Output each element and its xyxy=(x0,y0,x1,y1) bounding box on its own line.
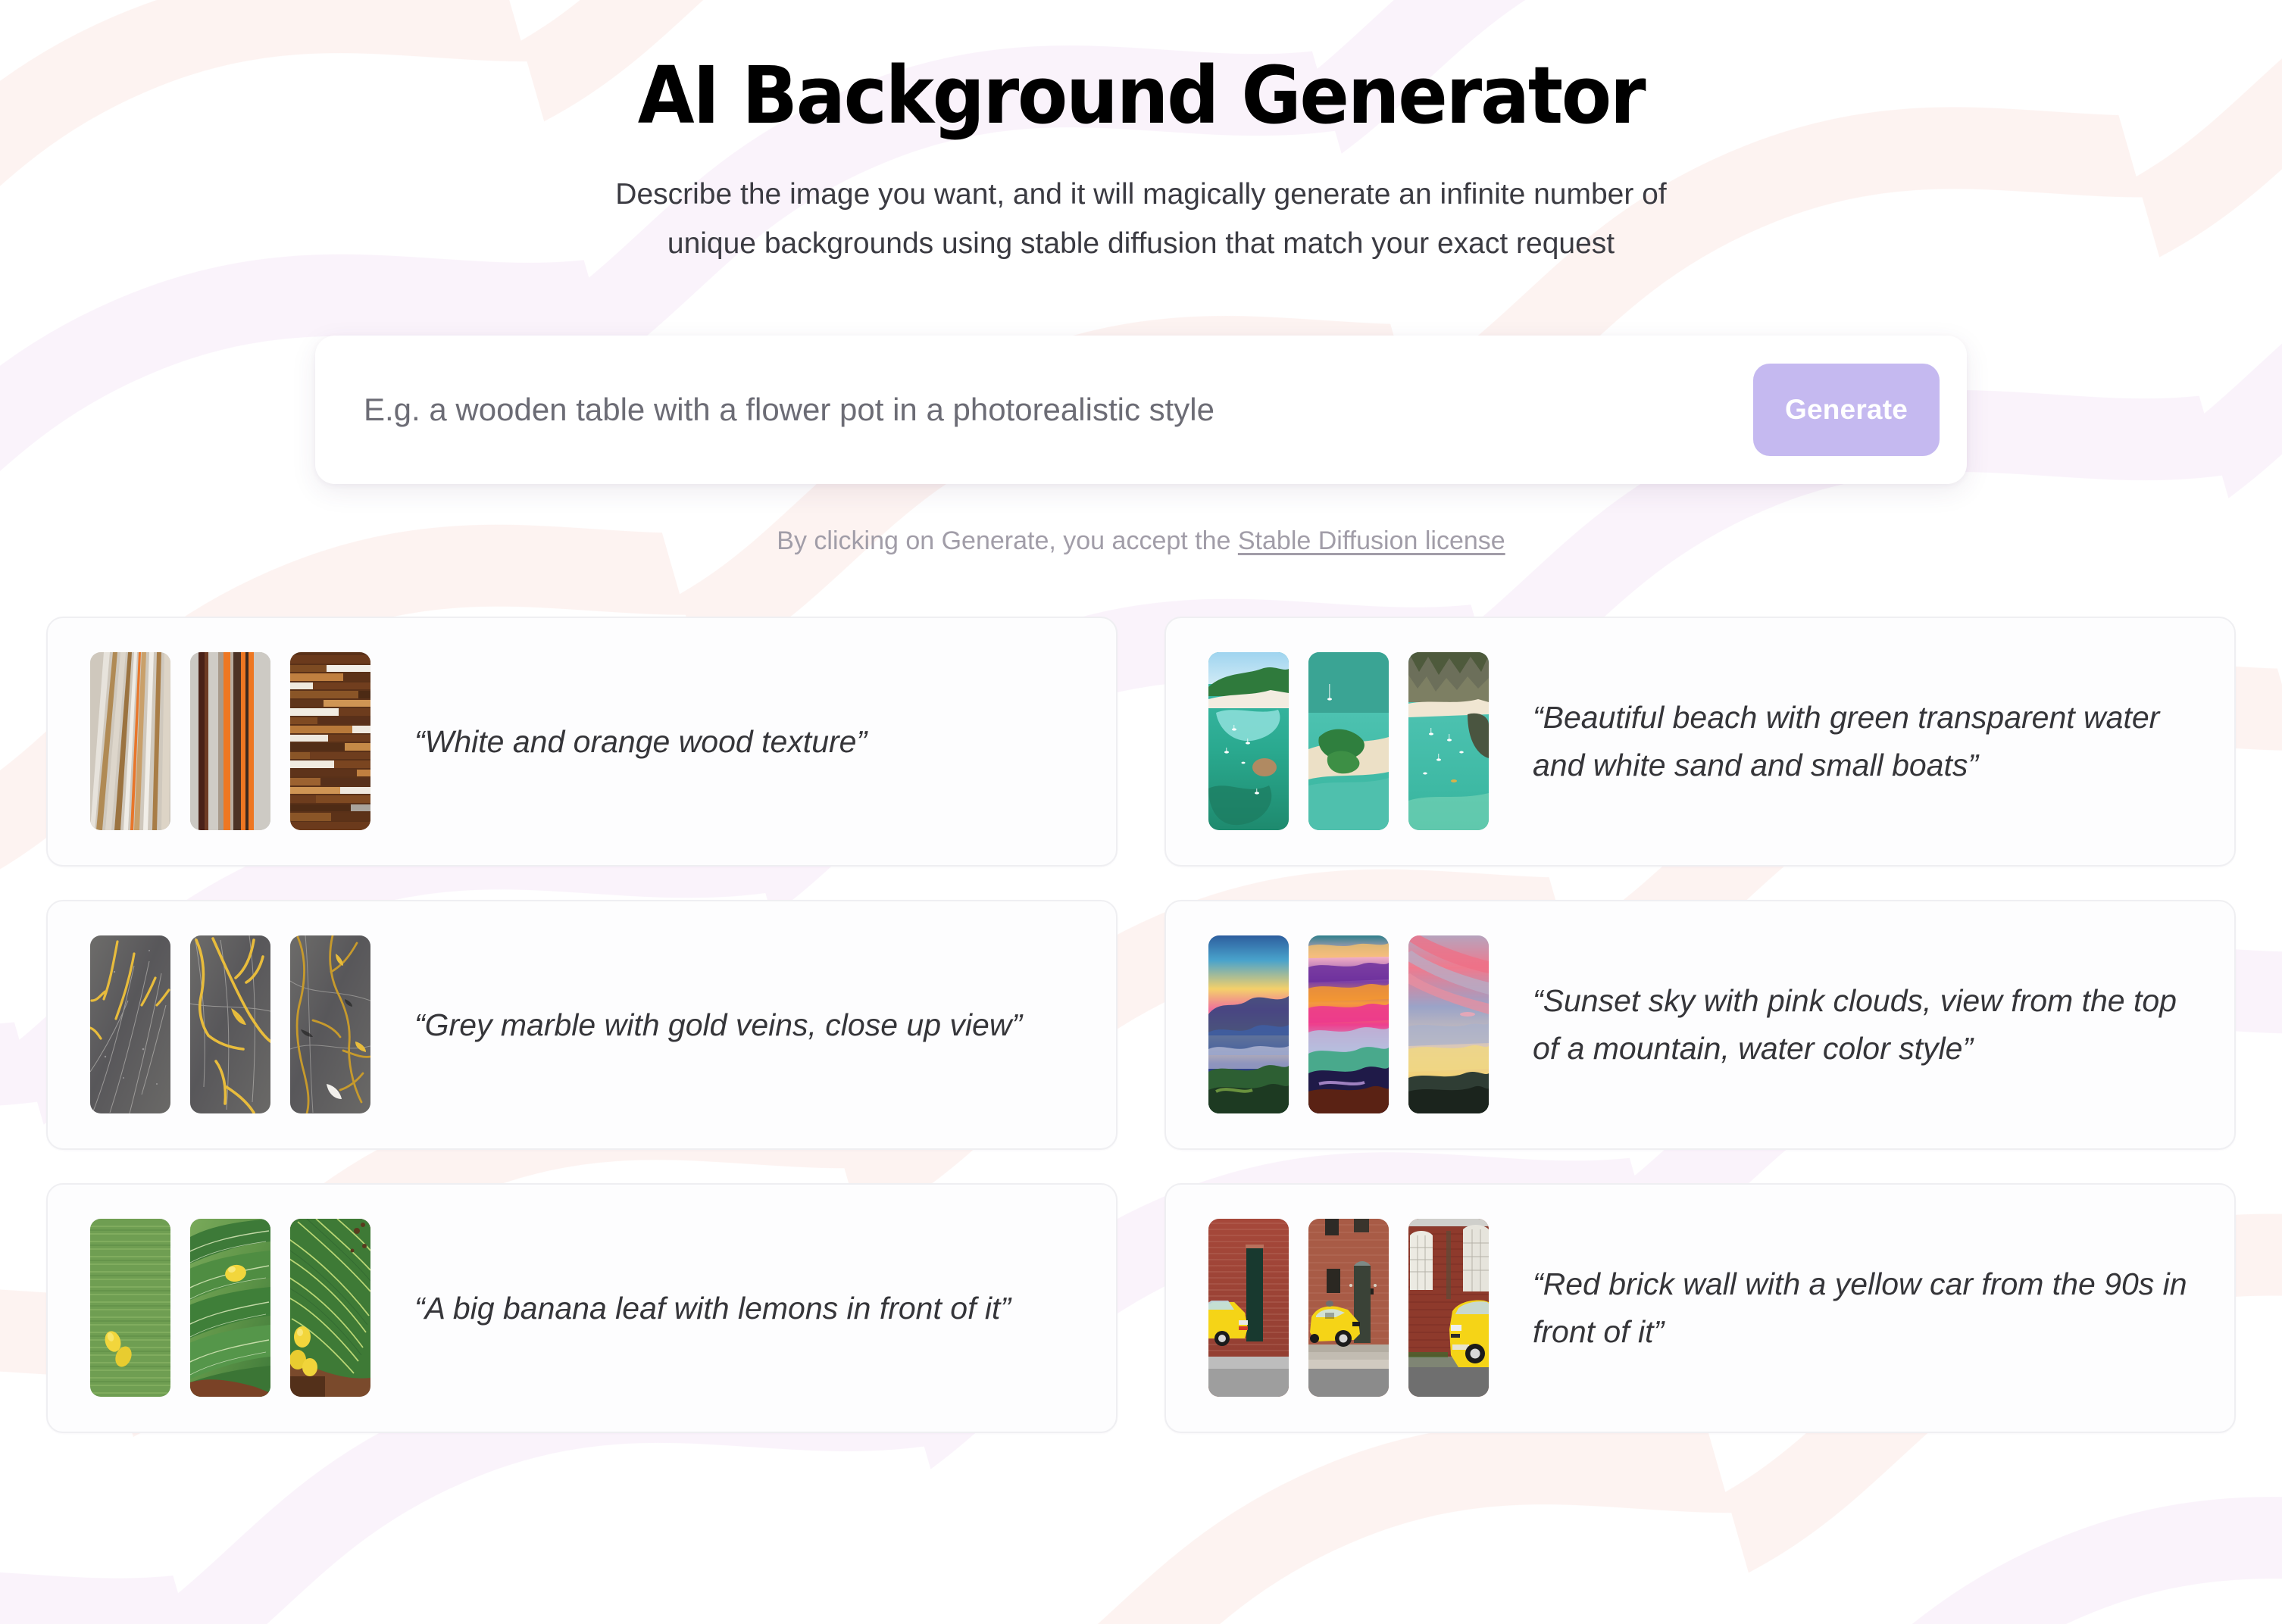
beach-cliff-bay-thumb[interactable] xyxy=(1408,652,1489,830)
thumbnail-row xyxy=(90,1219,370,1397)
example-card[interactable]: “Grey marble with gold veins, close up v… xyxy=(46,900,1118,1150)
example-card[interactable]: “Red brick wall with a yellow car from t… xyxy=(1164,1183,2236,1433)
banana-leaf-a-thumb[interactable] xyxy=(90,1219,170,1397)
marble-gold-vein-a-thumb[interactable] xyxy=(90,935,170,1113)
thumbnail-row xyxy=(1208,652,1489,830)
example-card[interactable]: “Sunset sky with pink clouds, view from … xyxy=(1164,900,2236,1150)
page-root: AI Background Generator Describe the ima… xyxy=(0,0,2282,1624)
banana-leaf-b-thumb[interactable] xyxy=(190,1219,270,1397)
hero-section: AI Background Generator Describe the ima… xyxy=(0,55,2282,269)
prompt-bar: Generate xyxy=(315,336,1967,484)
sunset-watercolor-a-thumb[interactable] xyxy=(1208,935,1289,1113)
example-card[interactable]: “A big banana leaf with lemons in front … xyxy=(46,1183,1118,1433)
stable-diffusion-license-link[interactable]: Stable Diffusion license xyxy=(1238,526,1505,555)
brick-car-a-thumb[interactable] xyxy=(1208,1219,1289,1397)
example-caption: “White and orange wood texture” xyxy=(414,718,867,765)
wood-planks-vertical-thumb[interactable] xyxy=(90,652,170,830)
brick-car-b-thumb[interactable] xyxy=(1308,1219,1389,1397)
example-caption: “Grey marble with gold veins, close up v… xyxy=(414,1001,1022,1048)
example-card[interactable]: “White and orange wood texture” xyxy=(46,617,1118,867)
thumbnail-row xyxy=(1208,1219,1489,1397)
example-card[interactable]: “Beautiful beach with green transparent … xyxy=(1164,617,2236,867)
generate-button[interactable]: Generate xyxy=(1753,364,1940,456)
example-caption: “Red brick wall with a yellow car from t… xyxy=(1533,1260,2192,1355)
sunset-watercolor-c-thumb[interactable] xyxy=(1408,935,1489,1113)
license-notice-prefix: By clicking on Generate, you accept the xyxy=(777,526,1238,555)
page-subtitle: Describe the image you want, and it will… xyxy=(599,170,1683,268)
thumbnail-row xyxy=(1208,935,1489,1113)
page-title: AI Background Generator xyxy=(80,55,2202,137)
license-notice: By clicking on Generate, you accept the … xyxy=(315,526,1967,556)
wood-slats-horizontal-thumb[interactable] xyxy=(290,652,370,830)
wood-stripes-orange-thumb[interactable] xyxy=(190,652,270,830)
brick-car-c-thumb[interactable] xyxy=(1408,1219,1489,1397)
example-caption: “Sunset sky with pink clouds, view from … xyxy=(1533,977,2192,1072)
thumbnail-row xyxy=(90,935,370,1113)
example-caption: “A big banana leaf with lemons in front … xyxy=(414,1285,1011,1332)
marble-gold-vein-c-thumb[interactable] xyxy=(290,935,370,1113)
thumbnail-row xyxy=(90,652,370,830)
beach-lagoon-thumb[interactable] xyxy=(1208,652,1289,830)
banana-leaf-c-thumb[interactable] xyxy=(290,1219,370,1397)
beach-sandbar-thumb[interactable] xyxy=(1308,652,1389,830)
marble-gold-vein-b-thumb[interactable] xyxy=(190,935,270,1113)
example-caption: “Beautiful beach with green transparent … xyxy=(1533,694,2192,789)
examples-grid: “White and orange wood texture” xyxy=(46,617,2236,1433)
sunset-watercolor-b-thumb[interactable] xyxy=(1308,935,1389,1113)
prompt-input[interactable] xyxy=(364,336,1753,484)
prompt-section: Generate By clicking on Generate, you ac… xyxy=(315,336,1967,556)
